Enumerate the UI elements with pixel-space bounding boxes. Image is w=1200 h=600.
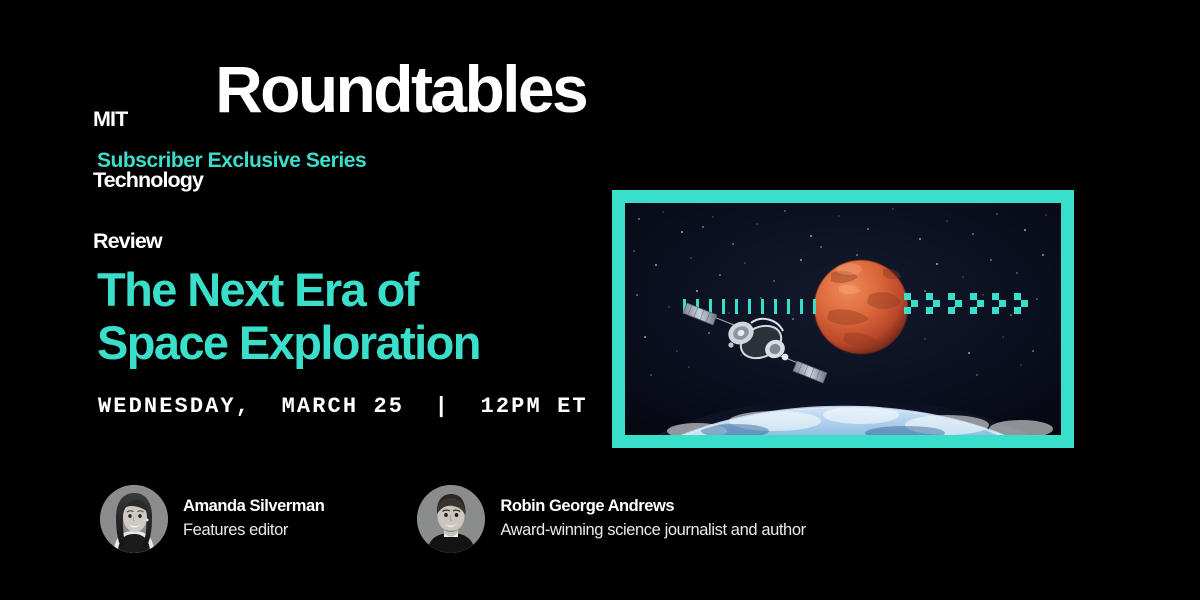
speaker-role: Award-winning science journalist and aut…: [500, 520, 805, 541]
logo-line-technology: Technology: [93, 170, 203, 190]
speaker-name: Robin George Andrews: [500, 496, 805, 517]
event-title-line-2: Space Exploration: [97, 316, 480, 369]
space-scene: [625, 203, 1061, 435]
logo-line-mit: MIT: [93, 109, 203, 129]
logo-line-review: Review: [93, 231, 203, 251]
speaker-role: Features editor: [183, 520, 324, 541]
speaker-list: Amanda Silverman Features editor: [100, 485, 806, 553]
space-artwork-frame: [612, 190, 1074, 448]
series-label: Subscriber Exclusive Series: [97, 149, 366, 173]
portrait-photo-icon: [417, 485, 485, 553]
portrait-photo-icon: [100, 485, 168, 553]
speaker-info: Amanda Silverman Features editor: [183, 496, 324, 542]
roundtables-event-poster: MIT Technology Review Roundtables Subscr…: [0, 0, 1200, 600]
mit-technology-review-logo: MIT Technology Review: [93, 62, 203, 293]
avatar: [100, 485, 168, 553]
space-illustration: [625, 203, 1061, 435]
speaker-item: Robin George Andrews Award-winning scien…: [417, 485, 805, 553]
speaker-info: Robin George Andrews Award-winning scien…: [500, 496, 805, 542]
speaker-item: Amanda Silverman Features editor: [100, 485, 324, 553]
event-datetime: WEDNESDAY, MARCH 25 | 12PM ET: [98, 394, 588, 419]
mars-planet: [814, 260, 908, 354]
avatar: [417, 485, 485, 553]
event-title-line-1: The Next Era of: [97, 263, 480, 316]
brand-lockup: MIT Technology Review Roundtables: [93, 62, 586, 293]
event-title: The Next Era of Space Exploration: [97, 263, 480, 369]
speaker-name: Amanda Silverman: [183, 496, 324, 517]
roundtables-wordmark: Roundtables: [215, 56, 586, 122]
